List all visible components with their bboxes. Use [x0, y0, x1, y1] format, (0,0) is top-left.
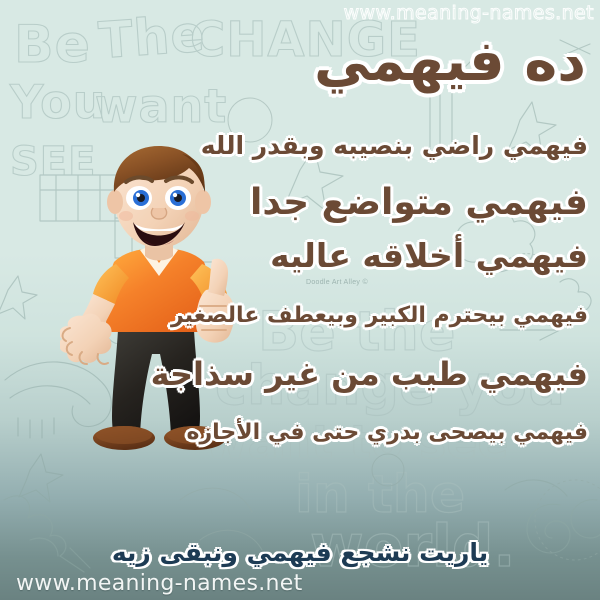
watermark-bottom: www.meaning-names.net — [16, 571, 303, 596]
boy-eye-left — [126, 186, 152, 210]
doodle-credit-text: Doodle Art Alley © — [306, 279, 368, 286]
boy-ear-left — [107, 190, 123, 214]
svg-text:You: You — [9, 75, 106, 129]
svg-text:want: want — [95, 79, 227, 133]
watermark-top: www.meaning-names.net — [344, 2, 594, 24]
boy-ear-right — [195, 190, 211, 214]
boy-eye-right — [165, 186, 191, 210]
svg-text:The: The — [97, 5, 207, 70]
meaning-line-6: فيهمي بيصحى بدري حتى في الأجازه — [187, 420, 589, 445]
name-meaning-card: Be The CHANGE You want SEE Be the change… — [0, 0, 600, 600]
closing-line: ياريت نشجع فيهمي ونبقى زيه — [0, 538, 600, 567]
meaning-line-4: فيهمي بيحترم الكبير وبيعطف عالصغير — [171, 303, 588, 328]
boy-nose — [151, 208, 166, 219]
page-title: ده فيهمي — [314, 34, 586, 90]
svg-text:Be: Be — [14, 15, 91, 75]
svg-text:in the: in the — [295, 465, 465, 525]
meaning-line-5: فيهمي طيب من غير سذاجة — [151, 355, 588, 393]
meaning-line-1: فيهمي راضي بنصيبه وبقدر الله — [201, 131, 588, 160]
boy-thumb-up — [208, 259, 228, 296]
meaning-line-2: فيهمي متواضع جدا — [250, 182, 588, 223]
meaning-line-3: فيهمي أخلاقه عاليه — [270, 236, 588, 275]
